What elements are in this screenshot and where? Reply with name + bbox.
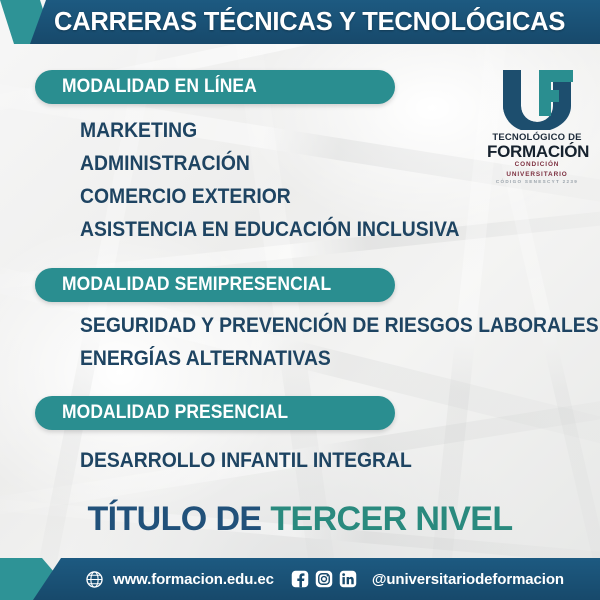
uf-monogram-icon (499, 68, 575, 130)
course-item: SEGURIDAD Y PREVENCIÓN DE RIESGOS LABORA… (80, 313, 599, 338)
course-item: MARKETING (80, 118, 197, 143)
course-item: DESARROLLO INFANTIL INTEGRAL (80, 448, 412, 473)
footer: www.formacion.edu.ec (0, 558, 600, 600)
logo: TECNOLÓGICO DE FORMACIÓN CONDICIÓN UNIVE… (487, 68, 587, 186)
header-bar: CARRERAS TÉCNICAS Y TECNOLÓGICAS (30, 0, 600, 44)
modality-banner-semipresencial: MODALIDAD SEMIPRESENCIAL (35, 268, 395, 302)
website-url[interactable]: www.formacion.edu.ec (113, 571, 274, 588)
logo-line-condicion: CONDICIÓN UNIVERSITARIO (487, 160, 587, 179)
course-item: ENERGÍAS ALTERNATIVAS (80, 346, 331, 371)
logo-line-codigo: CÓDIGO SENESCYT 2239 (487, 179, 587, 185)
degree-title: TÍTULO DE TERCER NIVEL (0, 500, 600, 539)
course-item: COMERCIO EXTERIOR (80, 184, 291, 209)
globe-icon (85, 570, 104, 589)
modality-banner-label: MODALIDAD PRESENCIAL (62, 402, 288, 424)
linkedin-icon[interactable] (339, 570, 357, 588)
page-title: CARRERAS TÉCNICAS Y TECNOLÓGICAS (54, 8, 565, 37)
modality-banner-label: MODALIDAD SEMIPRESENCIAL (62, 274, 331, 296)
instagram-icon[interactable] (315, 570, 333, 588)
footer-bar: www.formacion.edu.ec (33, 558, 600, 600)
course-item: ADMINISTRACIÓN (80, 151, 250, 176)
poster: CARRERAS TÉCNICAS Y TECNOLÓGICAS TECNOLÓ… (0, 0, 600, 600)
modality-banner-en-linea: MODALIDAD EN LÍNEA (35, 70, 395, 104)
header: CARRERAS TÉCNICAS Y TECNOLÓGICAS (0, 0, 600, 44)
modality-banner-presencial: MODALIDAD PRESENCIAL (35, 396, 395, 430)
logo-line-formacion: FORMACIÓN (487, 143, 587, 160)
degree-title-prefix: TÍTULO DE (87, 500, 261, 538)
social-handle[interactable]: @universitariodeformacion (372, 571, 564, 588)
social-links (291, 570, 357, 588)
modality-banner-label: MODALIDAD EN LÍNEA (62, 76, 257, 98)
degree-title-highlight: TERCER NIVEL (270, 500, 512, 538)
facebook-icon[interactable] (291, 570, 309, 588)
course-item: ASISTENCIA EN EDUCACIÓN INCLUSIVA (80, 217, 460, 242)
